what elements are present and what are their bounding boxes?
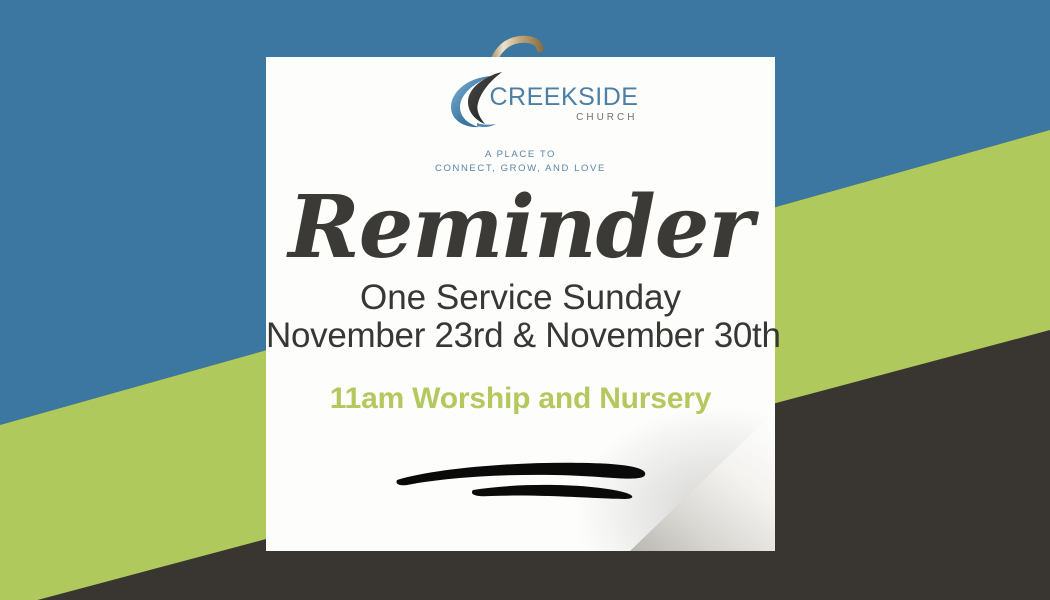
logo-name: CREEKSIDE [490,85,639,110]
logo-tagline-line-2: CONNECT, GROW, AND LOVE [266,162,775,176]
church-logo: CREEKSIDE CHURCH A PLACE TO CONNECT, GRO… [266,69,775,176]
reminder-poster: CREEKSIDE CHURCH A PLACE TO CONNECT, GRO… [0,0,1050,600]
logo-lockup: CREEKSIDE CHURCH [446,69,596,141]
subhead: One Service Sunday November 23rd & Novem… [266,279,775,355]
headline: Reminder [266,185,775,271]
brush-underline-icon [393,452,658,508]
logo-wordmark: CREEKSIDE CHURCH [490,85,639,123]
highlight-text: 11am Worship and Nursery [266,382,775,416]
subhead-line-1: One Service Sunday [266,279,775,317]
subhead-line-2: November 23rd & November 30th [266,317,775,355]
logo-tagline-line-1: A PLACE TO [266,148,775,162]
note-card: CREEKSIDE CHURCH A PLACE TO CONNECT, GRO… [266,57,775,551]
logo-tagline: A PLACE TO CONNECT, GROW, AND LOVE [266,148,775,176]
logo-sub: CHURCH [490,113,639,123]
